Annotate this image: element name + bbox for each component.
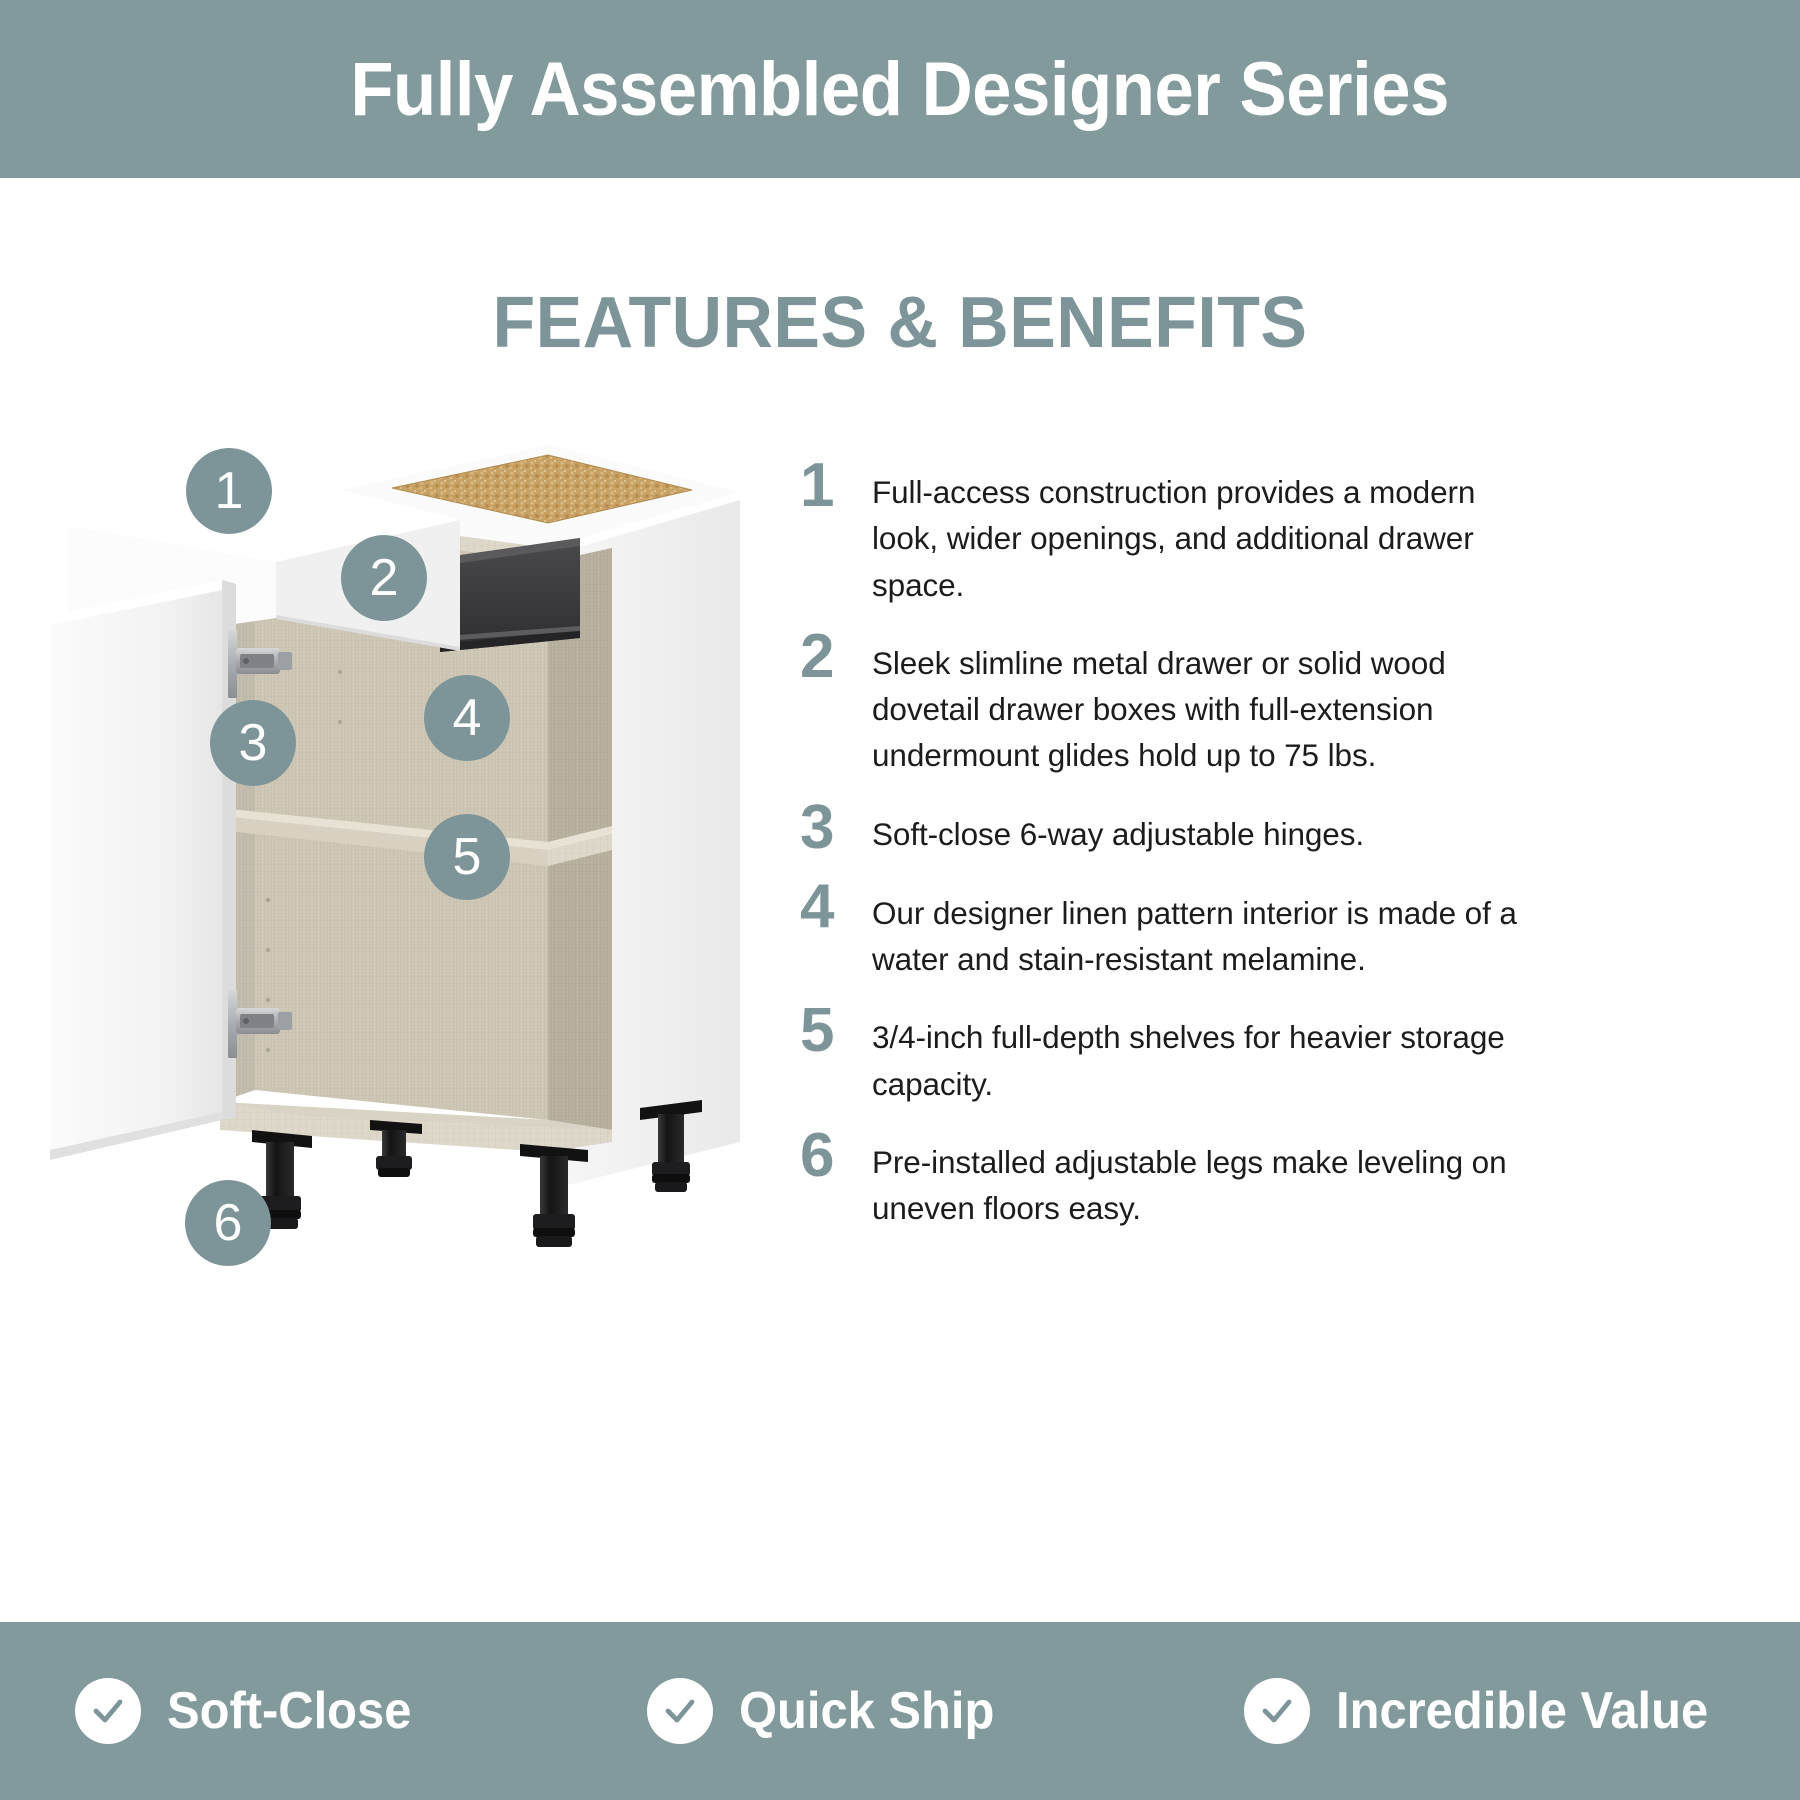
feature-item-6: 6 Pre-installed adjustable legs make lev… <box>800 1125 1520 1232</box>
callout-badge-2[interactable]: 2 <box>341 535 427 621</box>
feature-item-1: 1 Full-access construction provides a mo… <box>800 455 1520 608</box>
footer-label-quick-ship: Quick Ship <box>739 1681 994 1741</box>
callout-badge-6[interactable]: 6 <box>185 1180 271 1266</box>
feature-number-5: 5 <box>800 1000 872 1061</box>
feature-item-3: 3 Soft-close 6-way adjustable hinges. <box>800 797 1520 858</box>
footer-label-soft-close: Soft-Close <box>167 1681 411 1741</box>
footer-label-incredible-value: Incredible Value <box>1336 1681 1708 1741</box>
metal-drawer-box <box>440 538 580 652</box>
footer-badge-incredible-value: Incredible Value <box>1204 1678 1800 1744</box>
footer-badge-soft-close: Soft-Close <box>0 1678 631 1744</box>
feature-text-1: Full-access construction provides a mode… <box>872 455 1520 608</box>
feature-number-6: 6 <box>800 1125 872 1186</box>
footer-badge-quick-ship: Quick Ship <box>631 1678 1203 1744</box>
callout-badge-5[interactable]: 5 <box>424 814 510 900</box>
features-list: 1 Full-access construction provides a mo… <box>800 455 1520 1249</box>
feature-item-5: 5 3/4-inch full-depth shelves for heavie… <box>800 1000 1520 1107</box>
check-icon <box>1244 1678 1310 1744</box>
cabinet-door <box>50 580 236 1160</box>
section-heading: FEATURES & BENEFITS <box>27 282 1773 364</box>
feature-number-2: 2 <box>800 626 872 687</box>
feature-text-5: 3/4-inch full-depth shelves for heavier … <box>872 1000 1520 1107</box>
feature-text-2: Sleek slimline metal drawer or solid woo… <box>872 626 1520 779</box>
callout-badge-4[interactable]: 4 <box>424 675 510 761</box>
feature-number-4: 4 <box>800 876 872 937</box>
feature-item-2: 2 Sleek slimline metal drawer or solid w… <box>800 626 1520 779</box>
check-icon <box>75 1678 141 1744</box>
feature-text-3: Soft-close 6-way adjustable hinges. <box>872 797 1520 857</box>
check-icon <box>647 1678 713 1744</box>
adjustable-leg-back-center <box>370 1120 422 1177</box>
page-title: Fully Assembled Designer Series <box>351 46 1450 133</box>
callout-badge-3[interactable]: 3 <box>210 700 296 786</box>
callout-badge-1[interactable]: 1 <box>186 448 272 534</box>
feature-text-6: Pre-installed adjustable legs make level… <box>872 1125 1520 1232</box>
feature-number-1: 1 <box>800 455 872 516</box>
feature-number-3: 3 <box>800 797 872 858</box>
adjustable-leg-front-right <box>520 1144 588 1247</box>
feature-text-4: Our designer linen pattern interior is m… <box>872 876 1520 983</box>
footer-bar: Soft-Close Quick Ship Incredible Value <box>0 1622 1800 1800</box>
feature-item-4: 4 Our designer linen pattern interior is… <box>800 876 1520 983</box>
header-bar: Fully Assembled Designer Series <box>0 0 1800 178</box>
